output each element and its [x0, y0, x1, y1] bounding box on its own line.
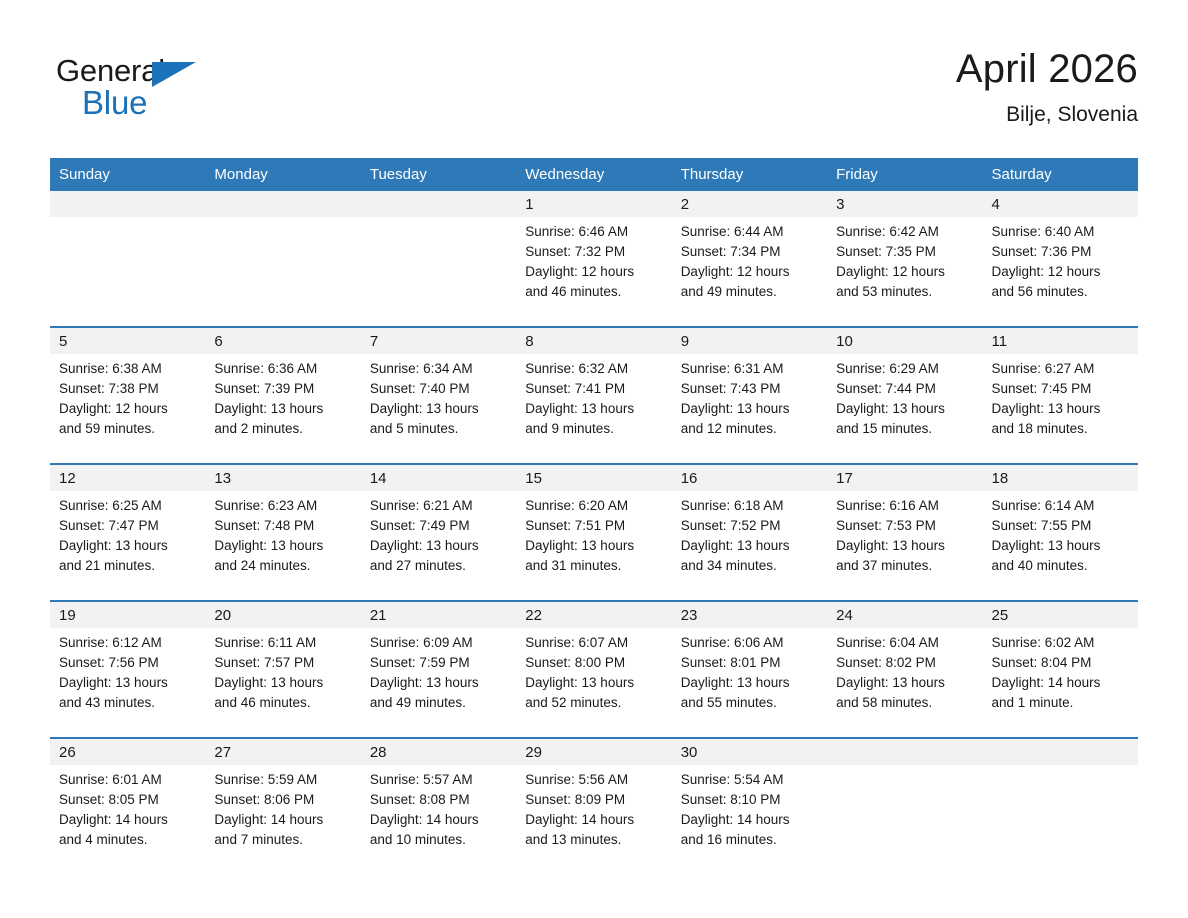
day-detail-line: Sunset: 7:48 PM	[214, 516, 354, 536]
day-detail-line: Daylight: 13 hours	[59, 673, 199, 693]
day-details-empty	[361, 217, 516, 327]
day-detail-line: Sunrise: 6:21 AM	[370, 496, 510, 516]
day-detail-line: Sunset: 7:39 PM	[214, 379, 354, 399]
day-detail-line: and 40 minutes.	[992, 556, 1132, 576]
day-detail-line: Sunrise: 6:29 AM	[836, 359, 976, 379]
day-detail-line: Sunset: 7:38 PM	[59, 379, 199, 399]
day-detail-line: Daylight: 13 hours	[525, 536, 665, 556]
day-detail-line: and 46 minutes.	[214, 693, 354, 713]
calendar-header-row: Sunday Monday Tuesday Wednesday Thursday…	[50, 158, 1138, 191]
day-detail-line: and 24 minutes.	[214, 556, 354, 576]
day-number[interactable]: 22	[516, 601, 671, 628]
day-number[interactable]: 19	[50, 601, 205, 628]
day-details-empty	[827, 765, 982, 875]
day-detail-line: Sunset: 7:45 PM	[992, 379, 1132, 399]
day-detail-line: Daylight: 12 hours	[992, 262, 1132, 282]
day-detail-line: Sunrise: 6:40 AM	[992, 222, 1132, 242]
calendar-page: General Blue April 2026 Bilje, Slovenia …	[0, 0, 1188, 918]
day-details: Sunrise: 6:06 AMSunset: 8:01 PMDaylight:…	[672, 628, 827, 738]
day-detail-line: and 31 minutes.	[525, 556, 665, 576]
weekday-header-tuesday: Tuesday	[361, 158, 516, 191]
day-detail-line: Sunrise: 6:44 AM	[681, 222, 821, 242]
day-detail-line: Daylight: 13 hours	[525, 673, 665, 693]
day-detail-line: Sunset: 7:40 PM	[370, 379, 510, 399]
day-number[interactable]: 11	[983, 327, 1138, 354]
day-detail-line: Daylight: 13 hours	[836, 673, 976, 693]
day-number[interactable]: 26	[50, 738, 205, 765]
day-number-empty	[205, 191, 360, 217]
day-detail-line: Daylight: 12 hours	[525, 262, 665, 282]
day-detail-line: Sunrise: 6:11 AM	[214, 633, 354, 653]
day-details-empty	[205, 217, 360, 327]
day-details: Sunrise: 6:18 AMSunset: 7:52 PMDaylight:…	[672, 491, 827, 601]
day-detail-line: Sunrise: 6:12 AM	[59, 633, 199, 653]
day-detail-line: Sunrise: 6:38 AM	[59, 359, 199, 379]
day-detail-line: Sunset: 8:06 PM	[214, 790, 354, 810]
day-detail-line: Sunrise: 5:59 AM	[214, 770, 354, 790]
day-detail-line: and 37 minutes.	[836, 556, 976, 576]
day-detail-line: Sunrise: 6:32 AM	[525, 359, 665, 379]
day-detail-line: Daylight: 13 hours	[214, 673, 354, 693]
calendar-body: 1234Sunrise: 6:46 AMSunset: 7:32 PMDayli…	[50, 191, 1138, 875]
day-detail-line: Sunset: 7:32 PM	[525, 242, 665, 262]
calendar-week-numbers-row: 19202122232425	[50, 601, 1138, 628]
day-detail-line: Sunrise: 6:02 AM	[992, 633, 1132, 653]
day-detail-line: Daylight: 13 hours	[681, 673, 821, 693]
day-details: Sunrise: 6:01 AMSunset: 8:05 PMDaylight:…	[50, 765, 205, 875]
day-details: Sunrise: 6:04 AMSunset: 8:02 PMDaylight:…	[827, 628, 982, 738]
day-number[interactable]: 5	[50, 327, 205, 354]
day-detail-line: Sunrise: 6:31 AM	[681, 359, 821, 379]
calendar-week-details-row: Sunrise: 6:46 AMSunset: 7:32 PMDaylight:…	[50, 217, 1138, 327]
calendar-week-details-row: Sunrise: 6:25 AMSunset: 7:47 PMDaylight:…	[50, 491, 1138, 601]
logo-text-general: General	[56, 53, 165, 88]
day-detail-line: Sunrise: 6:06 AM	[681, 633, 821, 653]
day-number[interactable]: 18	[983, 464, 1138, 491]
day-detail-line: Daylight: 14 hours	[992, 673, 1132, 693]
day-detail-line: Sunset: 8:10 PM	[681, 790, 821, 810]
page-title: April 2026	[956, 44, 1138, 94]
day-detail-line: Daylight: 14 hours	[214, 810, 354, 830]
day-detail-line: Sunrise: 6:23 AM	[214, 496, 354, 516]
day-detail-line: Sunrise: 6:14 AM	[992, 496, 1132, 516]
day-number-empty	[50, 191, 205, 217]
day-detail-line: Daylight: 12 hours	[836, 262, 976, 282]
day-detail-line: Sunrise: 6:09 AM	[370, 633, 510, 653]
day-detail-line: Sunrise: 6:46 AM	[525, 222, 665, 242]
day-detail-line: and 13 minutes.	[525, 830, 665, 850]
day-detail-line: and 58 minutes.	[836, 693, 976, 713]
day-number[interactable]: 16	[672, 464, 827, 491]
day-detail-line: Sunrise: 6:16 AM	[836, 496, 976, 516]
day-number[interactable]: 27	[205, 738, 360, 765]
day-detail-line: Sunset: 7:41 PM	[525, 379, 665, 399]
day-detail-line: and 15 minutes.	[836, 419, 976, 439]
day-number[interactable]: 30	[672, 738, 827, 765]
day-details: Sunrise: 6:34 AMSunset: 7:40 PMDaylight:…	[361, 354, 516, 464]
day-details: Sunrise: 6:44 AMSunset: 7:34 PMDaylight:…	[672, 217, 827, 327]
day-detail-line: Sunrise: 6:36 AM	[214, 359, 354, 379]
day-number[interactable]: 4	[983, 191, 1138, 217]
day-details: Sunrise: 6:09 AMSunset: 7:59 PMDaylight:…	[361, 628, 516, 738]
day-details: Sunrise: 6:38 AMSunset: 7:38 PMDaylight:…	[50, 354, 205, 464]
day-details: Sunrise: 5:56 AMSunset: 8:09 PMDaylight:…	[516, 765, 671, 875]
day-detail-line: Sunset: 7:51 PM	[525, 516, 665, 536]
day-details: Sunrise: 6:20 AMSunset: 7:51 PMDaylight:…	[516, 491, 671, 601]
weekday-header-wednesday: Wednesday	[516, 158, 671, 191]
day-number[interactable]: 25	[983, 601, 1138, 628]
day-detail-line: Sunset: 7:53 PM	[836, 516, 976, 536]
weekday-header-saturday: Saturday	[983, 158, 1138, 191]
calendar-week-details-row: Sunrise: 6:12 AMSunset: 7:56 PMDaylight:…	[50, 628, 1138, 738]
day-detail-line: Daylight: 13 hours	[370, 673, 510, 693]
general-blue-logo: General Blue	[56, 52, 276, 126]
day-detail-line: Daylight: 13 hours	[836, 399, 976, 419]
day-detail-line: Sunset: 7:47 PM	[59, 516, 199, 536]
weekday-header-sunday: Sunday	[50, 158, 205, 191]
day-detail-line: Sunrise: 6:25 AM	[59, 496, 199, 516]
day-detail-line: and 16 minutes.	[681, 830, 821, 850]
day-detail-line: and 10 minutes.	[370, 830, 510, 850]
day-details: Sunrise: 6:07 AMSunset: 8:00 PMDaylight:…	[516, 628, 671, 738]
day-detail-line: and 5 minutes.	[370, 419, 510, 439]
day-detail-line: Daylight: 13 hours	[59, 536, 199, 556]
day-detail-line: Sunset: 7:35 PM	[836, 242, 976, 262]
day-details: Sunrise: 5:59 AMSunset: 8:06 PMDaylight:…	[205, 765, 360, 875]
day-details-empty	[50, 217, 205, 327]
page-subtitle-location: Bilje, Slovenia	[956, 100, 1138, 130]
day-detail-line: and 55 minutes.	[681, 693, 821, 713]
calendar-week-numbers-row: 2627282930	[50, 738, 1138, 765]
day-number[interactable]: 23	[672, 601, 827, 628]
day-number[interactable]: 20	[205, 601, 360, 628]
day-number[interactable]: 2	[672, 191, 827, 217]
day-detail-line: and 49 minutes.	[370, 693, 510, 713]
day-detail-line: Daylight: 13 hours	[681, 536, 821, 556]
day-detail-line: Daylight: 13 hours	[836, 536, 976, 556]
day-detail-line: Daylight: 14 hours	[525, 810, 665, 830]
day-details: Sunrise: 5:57 AMSunset: 8:08 PMDaylight:…	[361, 765, 516, 875]
day-detail-line: and 46 minutes.	[525, 282, 665, 302]
day-number-empty	[361, 191, 516, 217]
day-detail-line: Sunset: 8:08 PM	[370, 790, 510, 810]
day-detail-line: Daylight: 13 hours	[992, 536, 1132, 556]
day-number[interactable]: 17	[827, 464, 982, 491]
day-details: Sunrise: 5:54 AMSunset: 8:10 PMDaylight:…	[672, 765, 827, 875]
day-detail-line: Sunrise: 6:42 AM	[836, 222, 976, 242]
day-detail-line: Sunset: 7:43 PM	[681, 379, 821, 399]
logo-row-general: General	[56, 52, 276, 90]
day-number[interactable]: 7	[361, 327, 516, 354]
day-detail-line: Sunset: 8:01 PM	[681, 653, 821, 673]
day-number[interactable]: 21	[361, 601, 516, 628]
day-detail-line: Daylight: 12 hours	[681, 262, 821, 282]
day-detail-line: Daylight: 13 hours	[370, 536, 510, 556]
day-detail-line: and 43 minutes.	[59, 693, 199, 713]
day-number[interactable]: 29	[516, 738, 671, 765]
calendar-week-details-row: Sunrise: 6:38 AMSunset: 7:38 PMDaylight:…	[50, 354, 1138, 464]
day-details: Sunrise: 6:31 AMSunset: 7:43 PMDaylight:…	[672, 354, 827, 464]
day-details: Sunrise: 6:12 AMSunset: 7:56 PMDaylight:…	[50, 628, 205, 738]
day-details: Sunrise: 6:32 AMSunset: 7:41 PMDaylight:…	[516, 354, 671, 464]
day-number[interactable]: 28	[361, 738, 516, 765]
day-detail-line: Daylight: 13 hours	[525, 399, 665, 419]
day-detail-line: Daylight: 14 hours	[370, 810, 510, 830]
day-detail-line: and 18 minutes.	[992, 419, 1132, 439]
day-details: Sunrise: 6:29 AMSunset: 7:44 PMDaylight:…	[827, 354, 982, 464]
day-detail-line: Sunset: 7:57 PM	[214, 653, 354, 673]
day-details: Sunrise: 6:11 AMSunset: 7:57 PMDaylight:…	[205, 628, 360, 738]
day-number[interactable]: 14	[361, 464, 516, 491]
weekday-header-friday: Friday	[827, 158, 982, 191]
day-details: Sunrise: 6:02 AMSunset: 8:04 PMDaylight:…	[983, 628, 1138, 738]
day-detail-line: Sunrise: 6:34 AM	[370, 359, 510, 379]
day-detail-line: Daylight: 13 hours	[992, 399, 1132, 419]
calendar-table: Sunday Monday Tuesday Wednesday Thursday…	[50, 158, 1138, 875]
calendar-week-numbers-row: 12131415161718	[50, 464, 1138, 491]
day-number[interactable]: 9	[672, 327, 827, 354]
weekday-header-monday: Monday	[205, 158, 360, 191]
day-detail-line: Sunset: 8:09 PM	[525, 790, 665, 810]
day-detail-line: Sunset: 7:56 PM	[59, 653, 199, 673]
day-detail-line: and 21 minutes.	[59, 556, 199, 576]
day-details: Sunrise: 6:25 AMSunset: 7:47 PMDaylight:…	[50, 491, 205, 601]
day-number[interactable]: 10	[827, 327, 982, 354]
day-detail-line: Sunset: 8:00 PM	[525, 653, 665, 673]
day-detail-line: and 4 minutes.	[59, 830, 199, 850]
day-number-empty	[827, 738, 982, 765]
day-detail-line: Sunset: 7:52 PM	[681, 516, 821, 536]
day-detail-line: Sunrise: 6:01 AM	[59, 770, 199, 790]
day-details-empty	[983, 765, 1138, 875]
day-detail-line: Daylight: 13 hours	[681, 399, 821, 419]
day-number[interactable]: 24	[827, 601, 982, 628]
day-detail-line: and 59 minutes.	[59, 419, 199, 439]
day-detail-line: Daylight: 13 hours	[370, 399, 510, 419]
calendar-week-numbers-row: 1234	[50, 191, 1138, 217]
day-number[interactable]: 13	[205, 464, 360, 491]
logo-triangle-icon	[152, 62, 196, 87]
day-detail-line: Sunset: 8:05 PM	[59, 790, 199, 810]
day-number[interactable]: 12	[50, 464, 205, 491]
day-detail-line: Daylight: 13 hours	[214, 536, 354, 556]
day-detail-line: Sunrise: 6:04 AM	[836, 633, 976, 653]
day-number-empty	[983, 738, 1138, 765]
day-detail-line: Sunset: 7:55 PM	[992, 516, 1132, 536]
day-detail-line: Sunset: 8:04 PM	[992, 653, 1132, 673]
title-block: April 2026 Bilje, Slovenia	[956, 44, 1138, 130]
day-detail-line: and 34 minutes.	[681, 556, 821, 576]
day-detail-line: Daylight: 14 hours	[681, 810, 821, 830]
day-detail-line: Sunrise: 6:20 AM	[525, 496, 665, 516]
day-detail-line: Sunrise: 5:56 AM	[525, 770, 665, 790]
day-details: Sunrise: 6:36 AMSunset: 7:39 PMDaylight:…	[205, 354, 360, 464]
day-details: Sunrise: 6:16 AMSunset: 7:53 PMDaylight:…	[827, 491, 982, 601]
day-detail-line: and 1 minute.	[992, 693, 1132, 713]
calendar-week-numbers-row: 567891011	[50, 327, 1138, 354]
day-detail-line: Sunset: 7:59 PM	[370, 653, 510, 673]
day-number[interactable]: 3	[827, 191, 982, 217]
day-detail-line: Sunrise: 6:07 AM	[525, 633, 665, 653]
day-detail-line: and 7 minutes.	[214, 830, 354, 850]
day-detail-line: Sunset: 7:34 PM	[681, 242, 821, 262]
day-detail-line: Sunset: 7:44 PM	[836, 379, 976, 399]
day-number[interactable]: 8	[516, 327, 671, 354]
day-detail-line: Daylight: 14 hours	[59, 810, 199, 830]
day-details: Sunrise: 6:46 AMSunset: 7:32 PMDaylight:…	[516, 217, 671, 327]
day-detail-line: Daylight: 13 hours	[214, 399, 354, 419]
day-detail-line: and 12 minutes.	[681, 419, 821, 439]
day-detail-line: Sunset: 7:36 PM	[992, 242, 1132, 262]
calendar-grid: Sunday Monday Tuesday Wednesday Thursday…	[50, 158, 1138, 875]
day-detail-line: and 52 minutes.	[525, 693, 665, 713]
weekday-header-thursday: Thursday	[672, 158, 827, 191]
calendar-week-details-row: Sunrise: 6:01 AMSunset: 8:05 PMDaylight:…	[50, 765, 1138, 875]
day-detail-line: Sunrise: 6:18 AM	[681, 496, 821, 516]
day-details: Sunrise: 6:40 AMSunset: 7:36 PMDaylight:…	[983, 217, 1138, 327]
day-detail-line: Daylight: 12 hours	[59, 399, 199, 419]
page-header: General Blue April 2026 Bilje, Slovenia	[50, 44, 1138, 152]
day-detail-line: and 53 minutes.	[836, 282, 976, 302]
day-number[interactable]: 15	[516, 464, 671, 491]
day-details: Sunrise: 6:27 AMSunset: 7:45 PMDaylight:…	[983, 354, 1138, 464]
day-detail-line: Sunset: 7:49 PM	[370, 516, 510, 536]
day-detail-line: Sunrise: 5:57 AM	[370, 770, 510, 790]
day-detail-line: and 56 minutes.	[992, 282, 1132, 302]
day-details: Sunrise: 6:21 AMSunset: 7:49 PMDaylight:…	[361, 491, 516, 601]
day-detail-line: Sunset: 8:02 PM	[836, 653, 976, 673]
day-details: Sunrise: 6:23 AMSunset: 7:48 PMDaylight:…	[205, 491, 360, 601]
day-number[interactable]: 6	[205, 327, 360, 354]
day-detail-line: and 49 minutes.	[681, 282, 821, 302]
day-detail-line: Sunrise: 6:27 AM	[992, 359, 1132, 379]
day-details: Sunrise: 6:14 AMSunset: 7:55 PMDaylight:…	[983, 491, 1138, 601]
day-details: Sunrise: 6:42 AMSunset: 7:35 PMDaylight:…	[827, 217, 982, 327]
day-number[interactable]: 1	[516, 191, 671, 217]
day-detail-line: and 27 minutes.	[370, 556, 510, 576]
day-detail-line: and 2 minutes.	[214, 419, 354, 439]
day-detail-line: Sunrise: 5:54 AM	[681, 770, 821, 790]
day-detail-line: and 9 minutes.	[525, 419, 665, 439]
